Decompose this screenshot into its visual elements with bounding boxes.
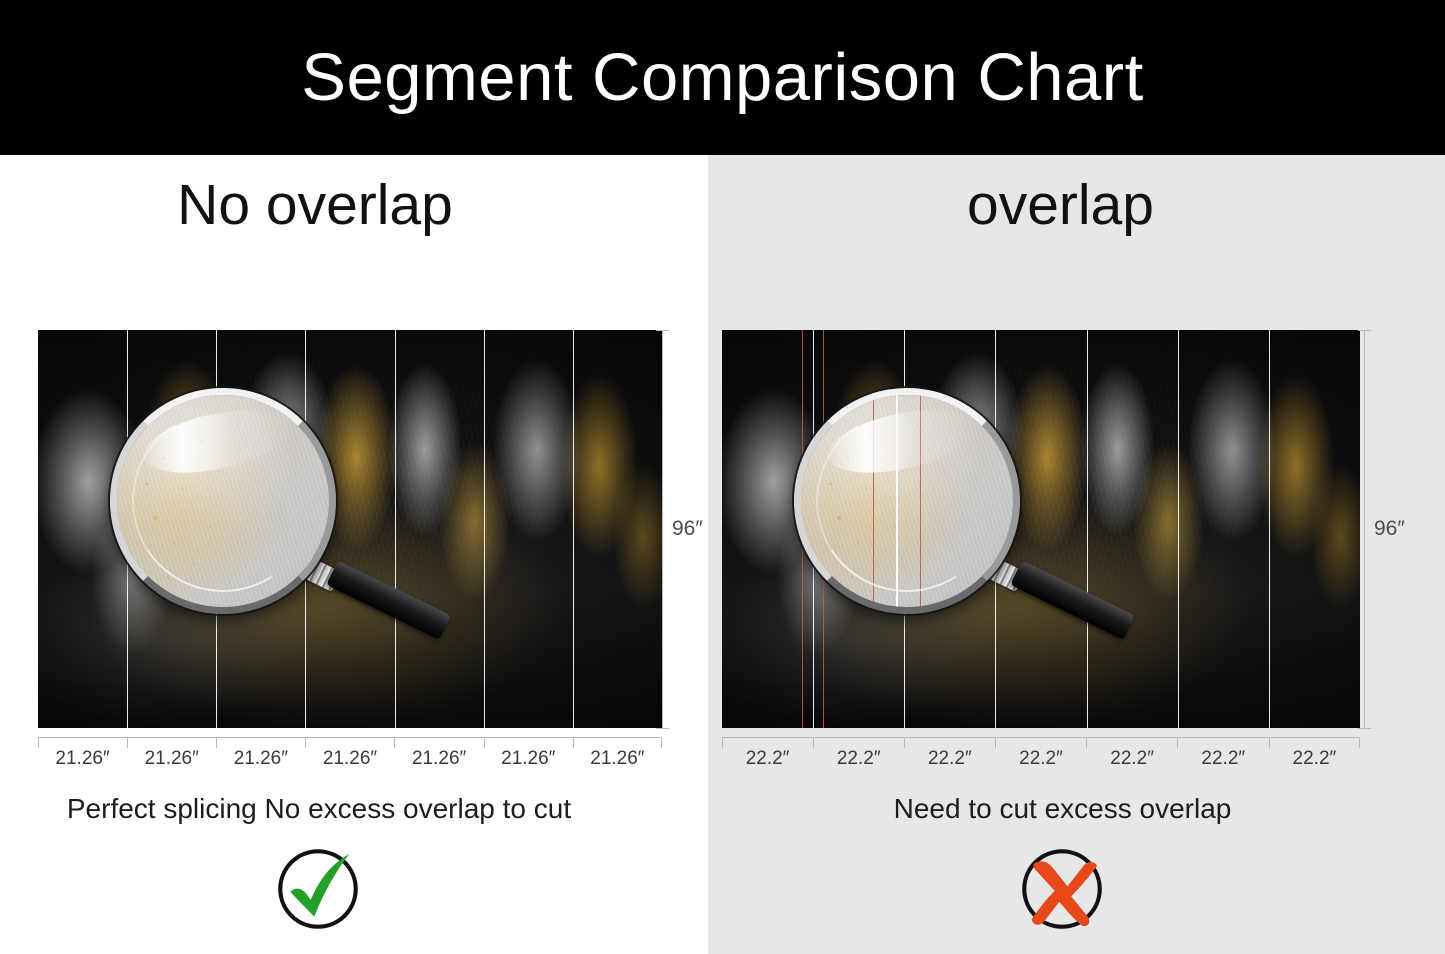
segment-label: 22.2″ [995, 745, 1086, 770]
segment-comparison-chart: Segment Comparison Chart No overlap [0, 0, 1445, 954]
segment-label: 21.26″ [216, 745, 305, 770]
segment-divider [904, 330, 905, 728]
page-title: Segment Comparison Chart [301, 44, 1143, 111]
segment-divider [813, 330, 814, 728]
comparison-panels: No overlap [0, 155, 1445, 954]
segment-label: 22.2″ [722, 745, 813, 770]
segment-divider [1269, 330, 1270, 728]
segment-label: 21.26″ [305, 745, 394, 770]
overlap-guide-line [823, 330, 824, 728]
cross-mark-icon [1016, 843, 1108, 935]
check-mark-icon [272, 843, 364, 935]
height-label-overlap: 96″ [1374, 517, 1405, 541]
segment-label: 22.2″ [1178, 745, 1269, 770]
segment-divider [1178, 330, 1179, 728]
height-label-no-overlap: 96″ [672, 517, 703, 541]
title-banner: Segment Comparison Chart [0, 0, 1445, 155]
segment-divider [305, 330, 306, 728]
height-dimension-line [1364, 330, 1365, 728]
feather-artwork [38, 330, 662, 728]
segment-label: 21.26″ [395, 745, 484, 770]
verdict-no-overlap [0, 843, 708, 935]
segment-label: 22.2″ [813, 745, 904, 770]
panel-heading-no-overlap: No overlap [0, 177, 708, 234]
segment-label: 21.26″ [127, 745, 216, 770]
artwork-overlap [722, 330, 1360, 728]
segment-divider [127, 330, 128, 728]
artwork-vignette [722, 330, 1360, 728]
height-dimension-line [662, 330, 663, 728]
height-dimension-cap-top [656, 330, 669, 331]
overlap-guide-line [802, 330, 803, 728]
segment-divider [216, 330, 217, 728]
segment-dimension-line [38, 737, 662, 738]
feather-artwork [722, 330, 1360, 728]
panel-no-overlap: No overlap [0, 155, 708, 954]
segment-label: 22.2″ [904, 745, 995, 770]
segment-label: 22.2″ [1269, 745, 1360, 770]
segment-dimension-line [722, 737, 1360, 738]
segment-label: 21.26″ [573, 745, 662, 770]
artwork-no-overlap [38, 330, 662, 728]
height-dimension-cap-top [1358, 330, 1371, 331]
verdict-overlap [708, 843, 1445, 935]
panel-heading-overlap: overlap [708, 177, 1445, 234]
segment-divider [484, 330, 485, 728]
segment-divider [573, 330, 574, 728]
segment-label-row: 21.26″ 21.26″ 21.26″ 21.26″ 21.26″ 21.26… [38, 745, 662, 770]
segment-divider [395, 330, 396, 728]
segment-divider [995, 330, 996, 728]
segment-divider [1087, 330, 1088, 728]
segment-label: 21.26″ [484, 745, 573, 770]
panel-overlap: overlap [708, 155, 1445, 954]
height-dimension-cap-bottom [1358, 728, 1371, 729]
segment-label: 21.26″ [38, 745, 127, 770]
segment-label: 22.2″ [1087, 745, 1178, 770]
height-dimension-cap-bottom [656, 728, 669, 729]
segment-label-row: 22.2″ 22.2″ 22.2″ 22.2″ 22.2″ 22.2″ 22.2… [722, 745, 1360, 770]
caption-overlap: Need to cut excess overlap [708, 795, 1445, 823]
caption-no-overlap: Perfect splicing No excess overlap to cu… [0, 795, 708, 823]
artwork-vignette [38, 330, 662, 728]
